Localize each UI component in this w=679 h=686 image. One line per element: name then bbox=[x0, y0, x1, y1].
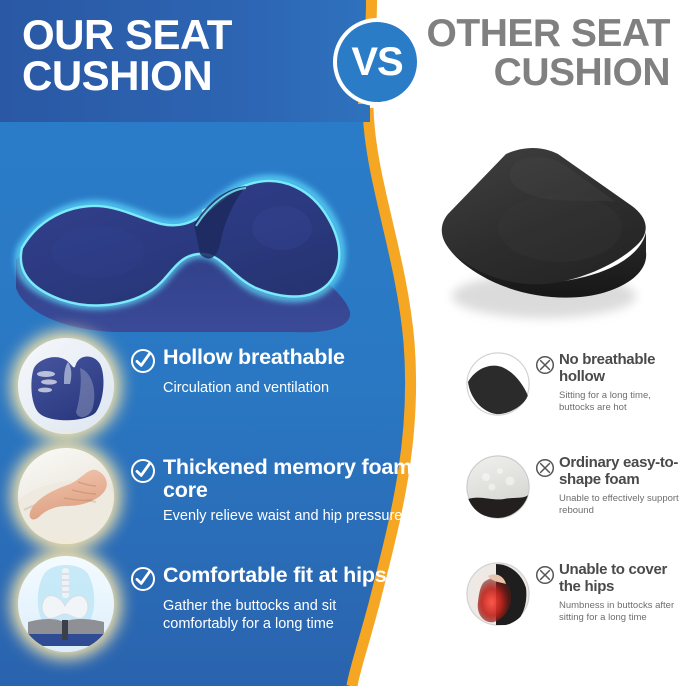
feature-title: Hollow breathable bbox=[163, 346, 345, 369]
header: OUR SEAT CUSHION VS OTHER SEAT CUSHION bbox=[0, 0, 679, 125]
feature-row: Hollow breathable Circulation and ventil… bbox=[18, 338, 438, 434]
con-subtitle: Unable to effectively support rebound bbox=[559, 493, 679, 517]
our-product-title-line2: CUSHION bbox=[22, 52, 212, 99]
our-product-title: OUR SEAT CUSHION bbox=[22, 14, 322, 96]
black-seat-cushion-image bbox=[420, 136, 665, 331]
feature-title: Thickened memory foam core bbox=[163, 456, 413, 502]
pelvis-on-cushion-thumbnail bbox=[18, 556, 114, 652]
hand-pressing-memory-foam-thumbnail bbox=[18, 448, 114, 544]
black-cushion-thumbnail bbox=[466, 352, 530, 416]
x-circle-icon bbox=[535, 565, 555, 585]
blue-seat-cushion-image bbox=[0, 132, 389, 337]
con-title: Ordinary easy-to-shape foam bbox=[559, 455, 679, 488]
feature-subtitle: Gather the buttocks and sit comfortably … bbox=[163, 598, 413, 633]
con-row: No breathable hollow Sitting for a long … bbox=[466, 352, 679, 416]
other-product-title-line2: CUSHION bbox=[420, 53, 670, 92]
con-row: Unable to cover the hips Numbness in but… bbox=[466, 562, 679, 626]
feature-row: Comfortable fit at hips Gather the butto… bbox=[18, 556, 438, 652]
other-product-title: OTHER SEAT CUSHION bbox=[420, 14, 670, 92]
ordinary-foam-thumbnail bbox=[466, 455, 530, 519]
con-title: No breathable hollow bbox=[559, 352, 679, 385]
feature-subtitle: Evenly relieve waist and hip pressure bbox=[163, 508, 413, 526]
check-circle-icon bbox=[130, 348, 156, 374]
blue-cushion-airflow-thumbnail bbox=[18, 338, 114, 434]
check-circle-icon bbox=[130, 566, 156, 592]
con-subtitle: Numbness in buttocks after sitting for a… bbox=[559, 600, 679, 624]
vs-badge: VS bbox=[333, 18, 421, 106]
con-row: Ordinary easy-to-shape foam Unable to ef… bbox=[466, 455, 679, 519]
comparison-infographic: OUR SEAT CUSHION VS OTHER SEAT CUSHION bbox=[0, 0, 679, 686]
vs-label: VS bbox=[351, 42, 402, 82]
hip-pain-thumbnail bbox=[466, 562, 530, 626]
feature-title: Comfortable fit at hips bbox=[163, 564, 387, 587]
our-product-title-line1: OUR SEAT bbox=[22, 11, 232, 58]
feature-row: Thickened memory foam core Evenly reliev… bbox=[18, 448, 438, 544]
x-circle-icon bbox=[535, 355, 555, 375]
feature-subtitle: Circulation and ventilation bbox=[163, 380, 345, 398]
con-subtitle: Sitting for a long time, buttocks are ho… bbox=[559, 390, 679, 414]
con-title: Unable to cover the hips bbox=[559, 562, 679, 595]
other-product-title-line1: OTHER SEAT bbox=[427, 12, 670, 55]
check-circle-icon bbox=[130, 458, 156, 484]
x-circle-icon bbox=[535, 458, 555, 478]
